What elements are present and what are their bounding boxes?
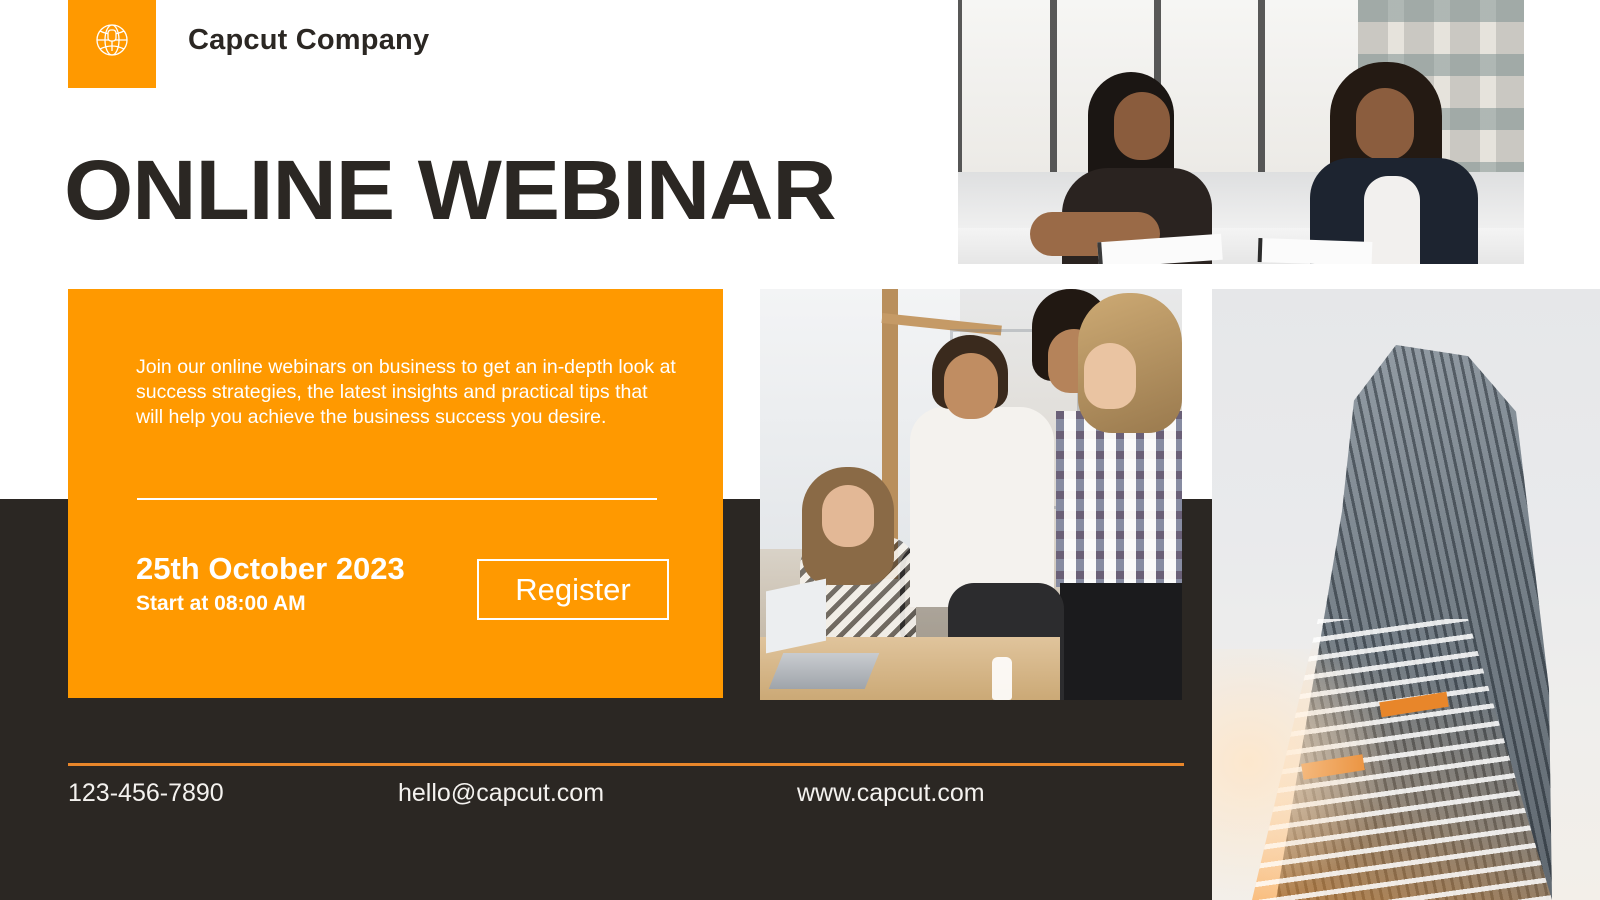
- page-title: ONLINE WEBINAR: [64, 148, 836, 232]
- water-bottle: [992, 657, 1012, 700]
- team-collaboration-photo: [760, 289, 1182, 700]
- footer-email[interactable]: hello@capcut.com: [398, 779, 604, 808]
- info-paragraph: Join our online webinars on business to …: [136, 355, 676, 430]
- event-time: Start at 08:00 AM: [136, 592, 306, 616]
- laptop-keyboard: [769, 653, 880, 689]
- woman-left-face: [1114, 92, 1170, 160]
- register-button[interactable]: Register: [477, 559, 669, 620]
- two-women-meeting-photo: [958, 0, 1524, 264]
- globe-icon: [90, 18, 134, 62]
- sunset-glow: [1212, 649, 1392, 900]
- skyscraper-photo: [1212, 289, 1600, 900]
- card-divider: [137, 498, 657, 500]
- logo-tile: [68, 0, 156, 88]
- footer-website[interactable]: www.capcut.com: [797, 779, 985, 808]
- standing-man-face: [944, 353, 998, 419]
- woman-right-shirt: [1364, 176, 1420, 264]
- info-card: Join our online webinars on business to …: [68, 289, 723, 698]
- event-date: 25th October 2023: [136, 551, 405, 587]
- blonde-woman-face: [1084, 343, 1136, 409]
- footer-divider: [68, 763, 1184, 766]
- notebook-right: [1258, 238, 1373, 264]
- laptop-screen: [766, 579, 826, 654]
- standing-man-shirt: [910, 407, 1054, 607]
- dark-trousers: [1060, 583, 1182, 700]
- webinar-poster: Capcut Company ONLINE WEBINAR Join our o…: [0, 0, 1600, 900]
- seated-woman-face: [822, 485, 874, 547]
- woman-right-face: [1356, 88, 1414, 160]
- plaid-shirt: [1056, 411, 1182, 587]
- footer-phone[interactable]: 123-456-7890: [68, 779, 224, 808]
- company-name: Capcut Company: [188, 24, 429, 57]
